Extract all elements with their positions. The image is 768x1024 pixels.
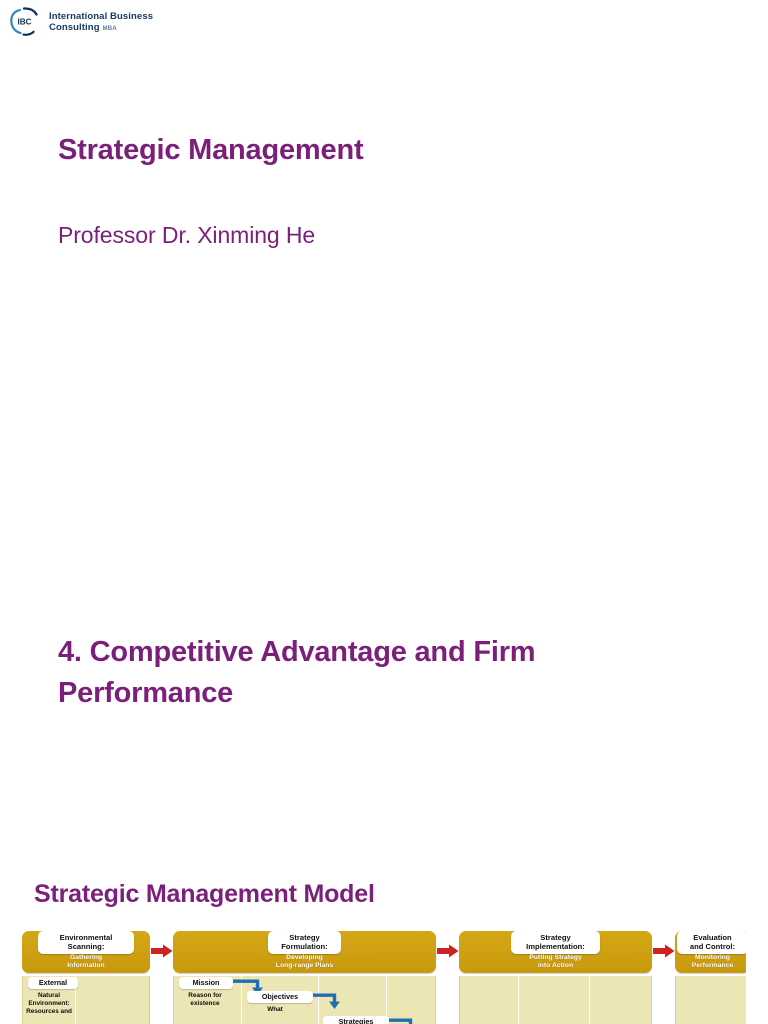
external-label: External [39, 978, 67, 987]
mission-body-line-2: existence [175, 1000, 235, 1008]
model-heading: Strategic Management Model [34, 880, 375, 909]
presenter-name: Professor Dr. Xinming He [58, 222, 315, 249]
objectives-label: Objectives [262, 992, 298, 1001]
stage-title-tab: Environmental Scanning: [38, 931, 134, 954]
external-body-line-1: Natural [24, 992, 74, 1000]
flow-arrow-icon-2 [437, 944, 459, 958]
mission-body-text: Reason for existence [175, 992, 235, 1008]
page-title: Strategic Management [58, 134, 363, 167]
stage-environmental-scanning: Environmental Scanning: Gathering Inform… [22, 928, 150, 1024]
stage-title-line-2: Scanning: [45, 942, 127, 951]
stage-subtitle: Putting Strategy into Action [459, 954, 652, 971]
stage-title-tab: Evaluation and Control: [677, 931, 746, 954]
external-body-line-3: Resources and [24, 1008, 74, 1016]
brand-logo: IBC International Business Consulting MB… [8, 6, 153, 38]
stage-subtitle-line-2: Information [22, 962, 150, 970]
objectives-tab: Objectives [247, 991, 313, 1003]
flow-arrow-icon-1 [151, 944, 173, 958]
external-tab: External [28, 977, 78, 989]
stage-subtitle: Monitoring Performance [675, 954, 746, 971]
stage-subtitle-line-2: Performance [675, 962, 746, 970]
external-body-line-2: Environment: [24, 1000, 74, 1008]
stage-title-line-2: and Control: [684, 942, 741, 951]
strategic-management-model-diagram: Environmental Scanning: Gathering Inform… [22, 928, 746, 1024]
stage-subtitle-line-2: Long-range Plans [173, 962, 436, 970]
stage-title-line-2: Implementation: [518, 942, 593, 951]
column-divider [518, 976, 519, 1024]
mission-body-line-1: Reason for [175, 992, 235, 1000]
stage-subtitle: Gathering Information [22, 954, 150, 971]
stage-evaluation-and-control: Evaluation and Control: Monitoring Perfo… [675, 928, 746, 1024]
stage-title-line-1: Environmental [45, 933, 127, 942]
logo-line-1: International Business [49, 11, 153, 22]
stage-subtitle-line-2: into Action [459, 962, 652, 970]
section-heading: 4. Competitive Advantage and Firm Perfor… [58, 632, 658, 714]
stage-title-line-1: Evaluation [684, 933, 741, 942]
stage-subtitle: Developing Long-range Plans [173, 954, 436, 971]
stage-body-panel [675, 976, 746, 1024]
svg-text:IBC: IBC [17, 18, 31, 27]
stage-strategy-implementation: Strategy Implementation: Putting Strateg… [459, 928, 652, 1024]
mission-label: Mission [193, 978, 220, 987]
stage-title-tab: Strategy Formulation: [268, 931, 341, 954]
mission-tab: Mission [179, 977, 233, 989]
flow-arrow-icon-3 [653, 944, 675, 958]
stage-title-tab: Strategy Implementation: [511, 931, 600, 954]
logo-line-2: Consulting [49, 22, 100, 33]
stage-title-line-1: Strategy [275, 933, 334, 942]
stage-body-panel [459, 976, 652, 1024]
objectives-body-text: What [245, 1006, 305, 1014]
stage-strategy-formulation: Strategy Formulation: Developing Long-ra… [173, 928, 436, 1024]
logo-mba-suffix: MBA [103, 26, 117, 33]
strategies-label: Strategies [339, 1017, 374, 1024]
external-body-text: Natural Environment: Resources and [24, 992, 74, 1016]
ibc-logo-icon: IBC [8, 6, 42, 38]
column-divider [589, 976, 590, 1024]
objectives-body-line-1: What [245, 1006, 305, 1014]
stage-title-line-1: Strategy [518, 933, 593, 942]
strategies-tab: Strategies [323, 1016, 389, 1024]
stage-title-line-2: Formulation: [275, 942, 334, 951]
